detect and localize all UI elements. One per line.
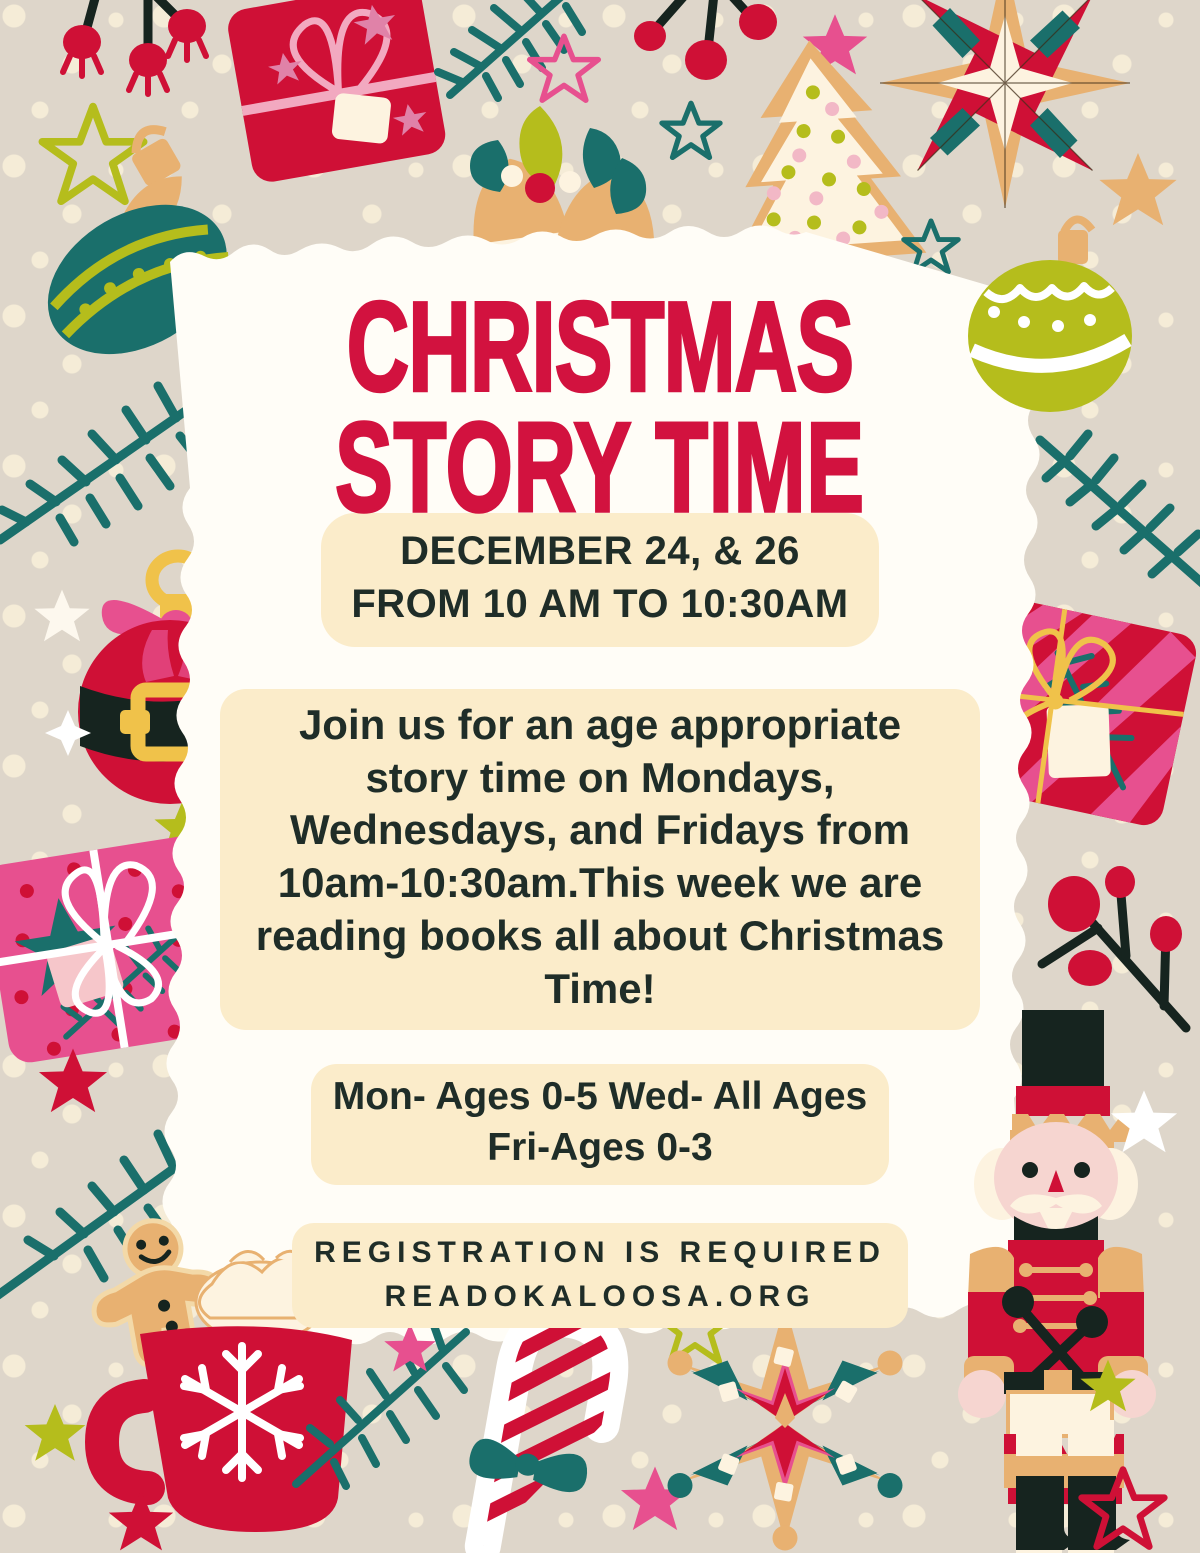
ages-line-1: Mon- Ages 0-5 Wed- All Ages [333,1072,868,1123]
registration-box: REGISTRATION IS REQUIRED READOKALOOSA.OR… [292,1223,908,1328]
body-copy: Join us for an age appropriate story tim… [220,689,980,1030]
registration-line: REGISTRATION IS REQUIRED [314,1231,886,1275]
title-line-2: STORY TIME [120,407,1080,527]
quilted-star-bottom-icon [660,1298,910,1548]
ages-box: Mon- Ages 0-5 Wed- All Ages Fri-Ages 0-3 [311,1064,890,1185]
red-star-bottom-left-icon [106,1486,176,1553]
pine-branch-bottom-icon [276,1324,476,1504]
pink-star-outline-icon [525,30,603,108]
quilted-star-top-right-icon [880,0,1130,208]
berry-sprig-top-left-icon [30,0,250,110]
christmas-flyer: CHRISTMAS STORY TIME DECEMBER 24, & 26 F… [0,0,1200,1553]
ages-line-2: Fri-Ages 0-3 [333,1123,868,1174]
ages-section: Mon- Ages 0-5 Wed- All Ages Fri-Ages 0-3 [0,1056,1200,1185]
registration-section: REGISTRATION IS REQUIRED READOKALOOSA.OR… [0,1211,1200,1328]
website-line[interactable]: READOKALOOSA.ORG [314,1275,886,1319]
lime-star-right-icon [1078,1356,1138,1416]
body-section: Join us for an age appropriate story tim… [0,673,1200,1030]
time-line: FROM 10 AM TO 10:30AM [351,578,848,631]
lime-star-bottom-left-icon [22,1400,88,1466]
poster-content: CHRISTMAS STORY TIME DECEMBER 24, & 26 F… [0,268,1200,1328]
page-title: CHRISTMAS STORY TIME [120,268,1080,526]
red-star-outline-icon [1076,1462,1170,1553]
tan-star-icon [1096,148,1180,232]
